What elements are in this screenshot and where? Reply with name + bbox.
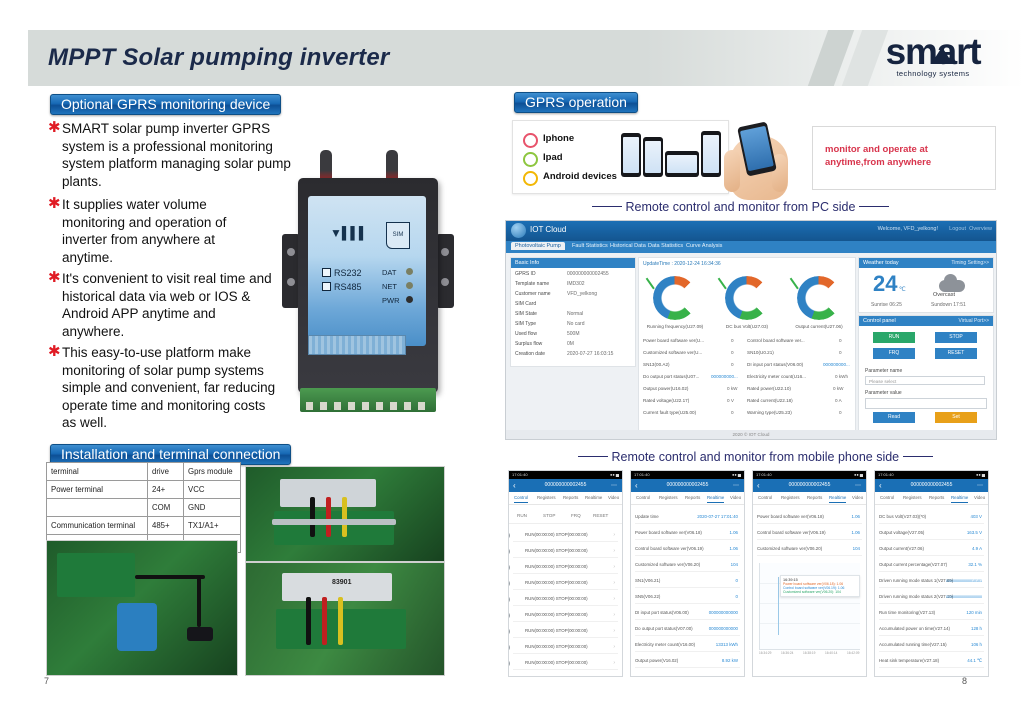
realtime-chart: 16:39:15 Power board software ver(V06.18… [759,563,860,650]
col-gprs-module: Gprs module [184,463,241,481]
table-header-row: terminal drive Gprs module [47,463,241,481]
run-button[interactable]: RUN [517,513,527,518]
temperature-value: 24 [873,271,897,297]
module-body: ▼▌▌▌ SIM RS232 RS485 DAT NET PWR [298,178,438,393]
chart-tooltip: 16:39:15 Power board software ver(V06.18… [780,575,860,597]
status-time: 17:01:40 [756,472,772,477]
led-label-pwr: PWR [382,296,400,305]
gauge-label-output-current: Output current(U27.06) [783,324,855,329]
x-tick-5: 16:42:09 [847,651,859,655]
tab-data-statistics[interactable]: Data Statistics [648,243,683,249]
read-button[interactable]: Read [873,412,915,423]
info-value: No card [567,321,585,327]
device-id-title: 000000000002455 [631,482,744,488]
overview-button[interactable]: Overview [969,226,992,232]
x-tick-4: 16:40:14 [825,651,837,655]
led-label-dat: DAT [382,268,396,277]
weather-condition: Overcast [933,292,955,298]
info-value: Normal [567,311,583,317]
page-number-right: 8 [962,676,967,686]
gauge-label-dc-volt: DC bus Volt(U27.03) [711,324,783,329]
mtab-control[interactable]: Control [758,495,772,500]
terminal-block [300,388,436,412]
list-item: Electricity meter count(V16.00)13313 kWh [635,639,740,652]
phone-navbar: ‹ 000000000002455 ⋯ [875,479,988,492]
col-drive: drive [148,463,184,481]
list-item: SN5(V06.22)0 [635,591,740,604]
list-item[interactable]: RUN(00:00:00) STOP(00:00:00)› [513,657,618,670]
param-key: Rated power(U22.10) [747,386,791,391]
cell-terminal: Communication terminal [47,517,148,535]
param-key: Power board software ver(U... [643,338,704,343]
basic-info-title: Basic Info [511,258,635,268]
param-key: SN13(00.A2) [643,362,670,367]
reset-button[interactable]: RESET [935,348,977,359]
virtual-port-link[interactable]: Virtual Port>> [959,316,989,326]
list-item: Control board software ver(V06.19)1.06 [635,543,740,556]
list-item: Output power(V16.02)8.92 kW [635,655,740,668]
param-key: DI input port status(V06.00) [747,362,803,367]
bullet-item-4: ✱ This easy-to-use platform make monitor… [62,344,277,432]
stop-button[interactable]: STOP [543,513,555,518]
sundown-text: Sundown 17:51 [931,302,966,308]
info-value: 500M [567,331,580,337]
checkbox-icon [322,282,331,291]
param-key: Customized software ver(U... [643,350,702,355]
rule-text-pc: Remote control and monitor from PC side [625,200,855,214]
dashboard-app-title: IOT Cloud [530,225,566,234]
param-value: 0 [731,362,734,367]
photo-label: 83901 [332,579,351,586]
timing-setting-link[interactable]: Timing Setting>> [951,258,989,268]
info-key: SIM Card [515,301,536,307]
bullet-text-2: It supplies water volume monitoring and … [62,197,226,265]
mtab-realtime[interactable]: Realtime [951,495,968,500]
param-value: 0 [731,338,734,343]
list-item[interactable]: RUN(00:00:00) STOP(00:00:00)› [513,609,618,622]
mtab-realtime[interactable]: Realtime [707,495,724,500]
param-value: 0 kW [727,386,737,391]
mtab-reports[interactable]: Reports [563,495,578,500]
list-item[interactable]: RUN(00:00:00) STOP(00:00:00)› [513,561,618,574]
banner-text: monitor and operate at anytime,from anyw… [825,143,985,169]
page-number-left: 7 [44,676,49,686]
mtab-control[interactable]: Control [636,495,650,500]
x-tick-2: 16:36:24 [781,651,793,655]
param-value: 0 [839,410,842,415]
info-key: Customer name [515,291,551,297]
col-terminal: terminal [47,463,148,481]
mtab-realtime[interactable]: Realtime [829,495,846,500]
gauge-dc-bus-volt [725,276,769,320]
led-indicator-net [406,282,413,289]
update-time: UpdateTime : 2020-12-24 16:34:36 [643,261,721,267]
frq-button[interactable]: FRQ [873,348,915,359]
rule-line-left [578,456,608,457]
device-id-title: 000000000002455 [509,482,622,488]
checkbox-icon [322,268,331,277]
table-row: Communication terminal 485+ TX1/A1+ [47,517,241,535]
cell-drive: COM [148,499,184,517]
info-key: GPRS ID [515,271,536,277]
param-value: 0 kW [833,386,843,391]
status-icons: ●● ▅ [610,472,619,477]
run-button[interactable]: RUN [873,332,915,343]
led-label-net: NET [382,282,397,291]
param-value: 0 [731,410,734,415]
finger-shape [724,150,740,192]
star-icon: ✱ [48,269,61,287]
list-item: Do output port status(V07.00)00000000000… [635,623,740,636]
rule-line-right [903,456,933,457]
status-icons: ●● ▅ [976,472,985,477]
device-thumb-phone-1 [621,133,641,177]
mtab-registers[interactable]: Registers [659,495,678,500]
list-item: Accumulated power on time(V27.14)128 h [879,623,984,636]
list-item: Driven running mode status 1(V27.09)0000… [879,575,984,588]
phone-tabbar: Control Registers Reports Realtime Video [875,492,988,505]
mtab-video[interactable]: Video [608,495,619,500]
param-name-label: Parameter name [865,368,902,374]
list-item: Accumulated running time(V27.15)106 h [879,639,984,652]
device-id-title: 000000000002455 [753,482,866,488]
section-heading-optional-gprs: Optional GPRS monitoring device [50,94,281,115]
phone-navbar: ‹ 000000000002455 ⋯ [631,479,744,492]
device-label-android: Android devices [543,171,617,182]
list-item: Driven running mode status 2(V27.10)0000… [879,591,984,604]
cloud-icon [939,280,965,292]
cell-terminal: Power terminal [47,481,148,499]
status-time: 17:01:40 [878,472,894,477]
star-icon: ✱ [48,195,61,213]
tab-historical-data[interactable]: Historical Data [610,243,646,249]
iphone-bullet-icon [523,133,538,148]
mtab-realtime[interactable]: Realtime [585,495,602,500]
control-panel-card: Control panel Virtual Port>> RUN STOP FR… [858,315,994,431]
list-item[interactable]: RUN(00:00:00) STOP(00:00:00)› [513,641,618,654]
gauge-label-frequency: Running frequency(U27.09) [639,324,711,329]
table-row: COM GND [47,499,241,517]
info-key: SIM State [515,311,537,317]
list-item[interactable]: RUN(00:00:00) STOP(00:00:00)› [513,593,618,606]
device-label-iphone: Iphone [543,133,574,144]
list-item: DC bus Volt(V27.03)(*0)403 V [879,511,984,524]
phone-navbar: ‹ 000000000002455 ⋯ [509,479,622,492]
info-key: Creation date [515,351,545,357]
bullet-item-1: ✱ SMART solar pump inverter GPRS system … [62,120,292,190]
more-icon[interactable]: ⋯ [855,482,862,489]
tooltip-line-3: Customized software ver(V06.20): 104 [783,590,857,594]
mobile-screenshot-realtime-list: 17:01:40 ●● ▅ ‹ 000000000002455 ⋯ Contro… [630,470,745,677]
gprs-module-photo: ▼▌▌▌ SIM RS232 RS485 DAT NET PWR [276,150,461,415]
hand-holding-phone-illustration [716,110,802,206]
rule-line-right [859,206,889,207]
reset-button[interactable]: RESET [593,513,608,518]
param-key: Electricity meter count(U16... [747,374,806,379]
more-icon[interactable]: ⋯ [977,482,984,489]
page-title: MPPT Solar pumping inverter [48,44,389,72]
mtab-control[interactable]: Control [514,495,528,500]
list-item: DI input port status(V06.00)000000000000 [635,607,740,620]
param-value: 0 A [835,398,842,403]
list-item: Output voltage(V27.05)163.5 V [879,527,984,540]
table-row: Power terminal 24+ VCC [47,481,241,499]
bullet-text-3: It's convenient to visit real time and h… [62,271,272,339]
rule-pc-side: Remote control and monitor from PC side [592,200,889,214]
mobile-screenshot-control: 17:01:40 ●● ▅ ‹ 000000000002455 ⋯ Contro… [508,470,623,677]
section-heading-gprs-operation: GPRS operation [514,92,638,113]
mtab-reports[interactable]: Reports [929,495,944,500]
param-key: Warning type(U25.23) [747,410,792,415]
cell-module: VCC [184,481,241,499]
frq-button[interactable]: FRQ [571,513,581,518]
param-key: SN10(U0.21) [747,350,774,355]
dashboard-footer: 2020 © IOT Cloud [506,430,996,439]
list-item: Customized software ver(V06.20)104 [757,543,862,556]
led-indicator-pwr [406,296,413,303]
wiring-photo-bottom: 83901 [245,562,445,676]
status-icons: ●● ▅ [732,472,741,477]
module-vent-strip [308,335,406,355]
cell-drive: 485+ [148,517,184,535]
param-value: 0 V [727,398,734,403]
port-rs485-label: RS485 [322,282,362,292]
info-value: VFD_yelkong [567,291,597,297]
param-key: Rated voltage(U22.17) [643,398,689,403]
param-key: Do output port status(U07... [643,374,699,379]
param-value: 0 kWh [835,374,848,379]
brand-logo: smart technology systems [874,32,992,78]
info-key: Surplus flow [515,341,542,347]
action-button-row: RUN STOP FRQ RESET [509,509,622,524]
phone-status-bar: 17:01:40 ●● ▅ [875,471,988,479]
param-value-label: Parameter value [865,390,902,396]
device-thumb-tablet [665,151,699,177]
x-tick-1: 16:34:29 [759,651,771,655]
wiring-photo-top [245,466,445,562]
list-item: Control board software ver(V06.19)1.06 [757,527,862,540]
tab-curve-analysis[interactable]: Curve Analysis [686,243,722,249]
param-key: Rated current(U22.18) [747,398,793,403]
list-item: Customized software ver(V06.20)104 [635,559,740,572]
list-item[interactable]: RUN(00:00:00) STOP(00:00:00)› [513,625,618,638]
mtab-registers[interactable]: Registers [903,495,922,500]
phone-status-bar: 17:01:40 ●● ▅ [753,471,866,479]
list-item: SN1(V06.21)0 [635,575,740,588]
list-item: Heat sink temperature(V27.18)44.1 ℃ [879,655,984,668]
info-key: SIM Type [515,321,536,327]
param-key: Output power(U16.02) [643,386,688,391]
list-item[interactable]: RUN(00:00:00) STOP(00:00:00)› [513,545,618,558]
stop-button[interactable]: STOP [935,332,977,343]
status-icons: ●● ▅ [854,472,863,477]
list-item: Output current(V27.06)4.9 A [879,543,984,556]
phone-status-bar: 17:01:40 ●● ▅ [631,471,744,479]
android-bullet-icon [523,171,538,186]
logo-wordmark: smart [874,32,992,72]
basic-info-card: Basic Info GPRS ID 000000000002455 Templ… [510,257,636,367]
temperature-unit: ℃ [899,286,906,293]
port-rs232-label: RS232 [322,268,362,278]
module-faceplate: ▼▌▌▌ SIM RS232 RS485 DAT NET PWR [308,196,426,346]
realtime-gauges-card: UpdateTime : 2020-12-24 16:34:36 Running… [638,257,856,431]
cell-drive: 24+ [148,481,184,499]
phone-tabbar: Control Registers Reports Realtime Video [753,492,866,505]
info-value: 2020-07-27 16:03:15 [567,351,613,357]
mounting-bracket-right [436,234,454,308]
info-value: 0M [567,341,574,347]
supported-devices-card: Iphone Ipad Android devices [512,120,729,194]
list-item: Update time2020-07-27 17:01:40 [635,511,740,524]
mtab-video[interactable]: Video [852,495,863,500]
mtab-video[interactable]: Video [730,495,741,500]
phone-tabbar: Control Registers Reports Realtime Video [509,492,622,505]
device-thumb-phone-2 [643,137,663,177]
list-item: Run time monitoring(V27.13)120 min [879,607,984,620]
bullet-item-2: ✱ It supplies water volume monitoring an… [62,196,262,266]
gauge-running-frequency [653,276,697,320]
param-value: 0 [839,338,842,343]
pc-dashboard-screenshot: IOT Cloud Welcome, VFD_yelkong! Logout O… [505,220,997,440]
bullet-text-1: SMART solar pump inverter GPRS system is… [62,121,291,189]
list-item: Output current percentage(V27.07)32.1 % [879,559,984,572]
mobile-screenshot-chart: 17:01:40 ●● ▅ ‹ 000000000002455 ⋯ Contro… [752,470,867,677]
param-name-select[interactable]: Please select [865,376,985,385]
phone-tabbar: Control Registers Reports Realtime Video [631,492,744,505]
list-item: Power board software ver(V06.18)1.06 [757,511,862,524]
status-time: 17:01:40 [634,472,650,477]
info-key: Template name [515,281,549,287]
param-value: 0 [839,350,842,355]
cell-terminal [47,499,148,517]
dashboard-tabbar: Photovoltaic Pump Fault Statistics Histo… [506,241,996,253]
x-tick-3: 16:38:19 [803,651,815,655]
mtab-registers[interactable]: Registers [537,495,556,500]
triangle-icon [931,47,953,64]
bullet-item-3: ✱ It's convenient to visit real time and… [62,270,277,340]
param-key: Control board software ver... [747,338,805,343]
sim-slot-icon: SIM [386,222,410,249]
controller-photo [46,540,238,676]
bullet-text-4: This easy-to-use platform make monitorin… [62,345,275,430]
set-button[interactable]: Set [935,412,977,423]
gauge-output-current [797,276,841,320]
info-value: IMD302 [567,281,585,287]
mtab-reports[interactable]: Reports [685,495,700,500]
device-id-title: 000000000002455 [875,482,988,488]
logout-button[interactable]: Logout [949,226,966,232]
tab-fault-statistics[interactable]: Fault Statistics [572,243,608,249]
rule-line-left [592,206,622,207]
list-item: Power board software ver(V06.18)1.06 [635,527,740,540]
mtab-video[interactable]: Video [974,495,985,500]
param-key: Current fault type(U25.00) [643,410,696,415]
star-icon: ✱ [48,119,61,137]
weather-card: Weather today Timing Setting>> 24 ℃ Over… [858,257,994,313]
chart-cursor-line [778,577,779,635]
phone-status-bar: 17:01:40 ●● ▅ [509,471,622,479]
list-item[interactable]: RUN(00:00:00) STOP(00:00:00)› [513,529,618,542]
welcome-text: Welcome, VFD_yelkong! [878,226,938,232]
star-icon: ✱ [48,343,61,361]
param-value-input[interactable] [865,398,987,409]
cell-module: TX1/A1+ [184,517,241,535]
rule-mobile-side: Remote control and monitor from mobile p… [578,450,933,464]
signal-icon: ▼▌▌▌ [330,226,367,240]
mtab-registers[interactable]: Registers [781,495,800,500]
param-value: 0 [731,350,734,355]
tab-photovoltaic-pump[interactable]: Photovoltaic Pump [511,242,565,250]
cell-module: GND [184,499,241,517]
list-item[interactable]: RUN(00:00:00) STOP(00:00:00)› [513,577,618,590]
info-key: Used flow [515,331,537,337]
mtab-reports[interactable]: Reports [807,495,822,500]
marketing-banner: monitor and operate at anytime,from anyw… [812,126,996,190]
mtab-control[interactable]: Control [880,495,894,500]
phone-navbar: ‹ 000000000002455 ⋯ [753,479,866,492]
param-value: 000000000... [823,362,850,367]
more-icon[interactable]: ⋯ [733,482,740,489]
ipad-bullet-icon [523,152,538,167]
status-time: 17:01:40 [512,472,528,477]
rule-text-mobile: Remote control and monitor from mobile p… [611,450,899,464]
param-value: 000000000... [711,374,738,379]
cloud-logo-icon [511,223,526,238]
mobile-screenshot-realtime-values: 17:01:40 ●● ▅ ‹ 000000000002455 ⋯ Contro… [874,470,989,677]
info-value: 000000000002455 [567,271,609,277]
sunrise-text: Sunrise 06:25 [871,302,902,308]
more-icon[interactable]: ⋯ [611,482,618,489]
led-indicator-dat [406,268,413,275]
device-label-ipad: Ipad [543,152,563,163]
